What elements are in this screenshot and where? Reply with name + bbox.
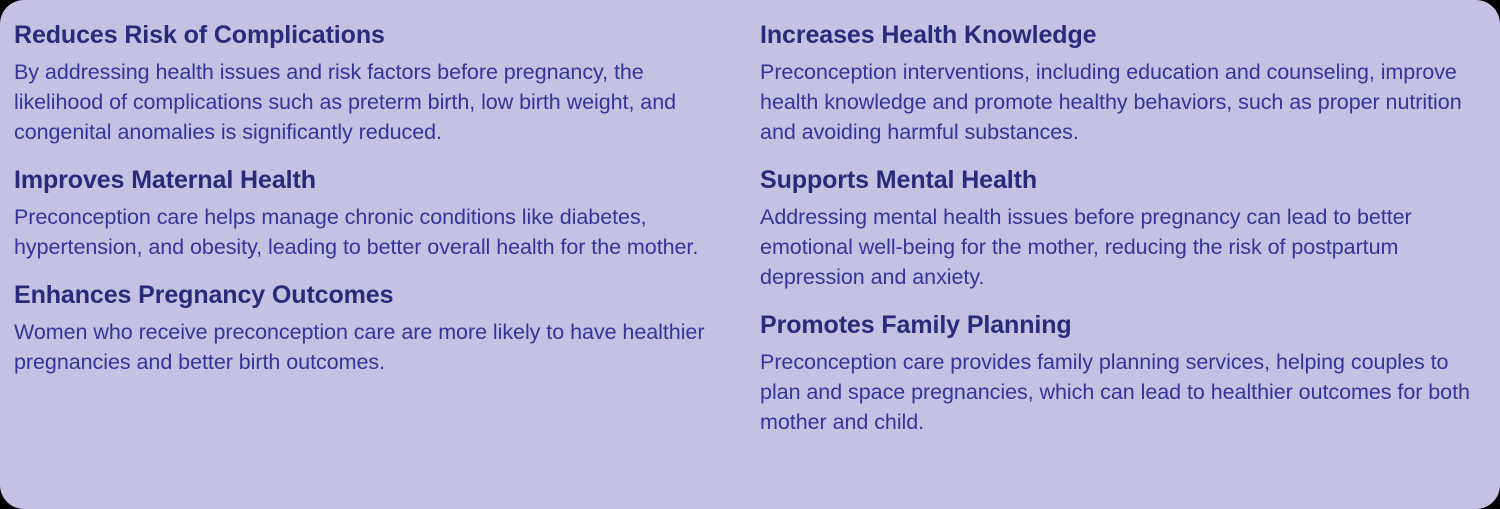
benefit-description: Preconception care provides family plann… [760,347,1486,437]
benefit-heading: Supports Mental Health [760,165,1486,195]
benefit-heading: Reduces Risk of Complications [14,20,732,50]
benefit-description: Women who receive preconception care are… [14,317,732,377]
benefit-item: Enhances Pregnancy Outcomes Women who re… [14,280,732,377]
benefit-heading: Enhances Pregnancy Outcomes [14,280,732,310]
benefit-description: By addressing health issues and risk fac… [14,57,732,147]
benefit-description: Preconception interventions, including e… [760,57,1486,147]
benefit-description: Preconception care helps manage chronic … [14,202,732,262]
benefit-heading: Increases Health Knowledge [760,20,1486,50]
benefit-heading: Improves Maternal Health [14,165,732,195]
benefit-item: Promotes Family Planning Preconception c… [760,310,1486,437]
benefits-right-column: Increases Health Knowledge Preconception… [746,20,1486,441]
benefit-heading: Promotes Family Planning [760,310,1486,340]
benefit-item: Increases Health Knowledge Preconception… [760,20,1486,161]
benefits-card: Reduces Risk of Complications By address… [0,0,1500,509]
benefit-item: Improves Maternal Health Preconception c… [14,165,732,276]
benefit-item: Supports Mental Health Addressing mental… [760,165,1486,306]
benefits-left-column: Reduces Risk of Complications By address… [14,20,746,381]
benefit-description: Addressing mental health issues before p… [760,202,1486,292]
benefit-item: Reduces Risk of Complications By address… [14,20,732,161]
